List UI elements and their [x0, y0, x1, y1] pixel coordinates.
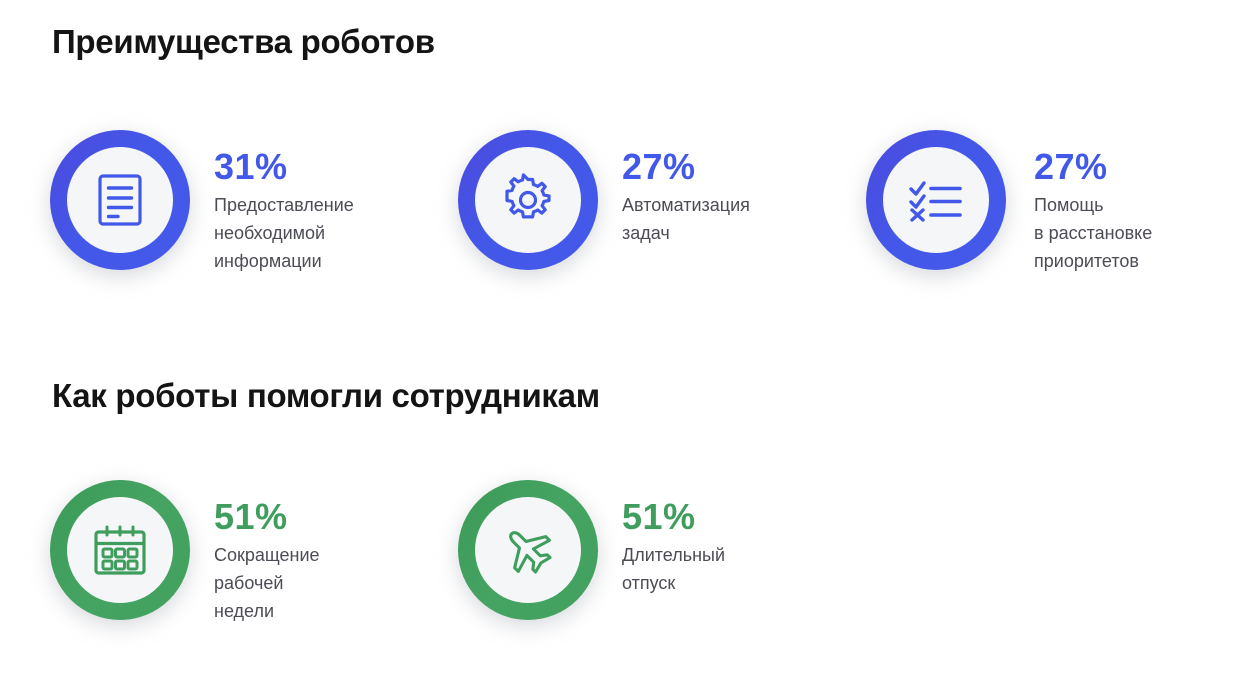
ring-blue — [50, 130, 190, 270]
stat-label: Длительный отпуск — [622, 541, 725, 597]
stat-icon-ring — [50, 480, 190, 620]
stat-icon-ring — [458, 130, 598, 270]
ring-blue — [866, 130, 1006, 270]
stat-text: 51% Длительный отпуск — [622, 480, 725, 597]
gear-icon — [501, 173, 555, 227]
ring-blue — [458, 130, 598, 270]
stat-label: Сокращение рабочей недели — [214, 541, 320, 625]
checklist-icon — [908, 176, 964, 224]
airplane-icon — [500, 523, 556, 577]
stat-block-workweek: 51% Сокращение рабочей недели — [50, 480, 320, 625]
calendar-icon — [93, 524, 147, 576]
infographic-page: Преимущества роботов — [0, 0, 1241, 694]
stat-text: 27% Автоматизация задач — [622, 130, 750, 247]
stat-block-vacation: 51% Длительный отпуск — [458, 480, 725, 620]
stat-label: Предоставление необходимой информации — [214, 191, 354, 275]
stat-label: Автоматизация задач — [622, 191, 750, 247]
stat-percent: 51% — [622, 496, 725, 538]
stat-label: Помощь в расстановке приоритетов — [1034, 191, 1152, 275]
ring-inner-disc — [883, 147, 989, 253]
stat-icon-ring — [866, 130, 1006, 270]
stat-text: 51% Сокращение рабочей недели — [214, 480, 320, 625]
stat-icon-ring — [50, 130, 190, 270]
stat-text: 27% Помощь в расстановке приоритетов — [1034, 130, 1152, 275]
ring-inner-disc — [475, 497, 581, 603]
ring-green — [458, 480, 598, 620]
ring-green — [50, 480, 190, 620]
stat-icon-ring — [458, 480, 598, 620]
ring-inner-disc — [475, 147, 581, 253]
stat-percent: 51% — [214, 496, 320, 538]
stat-percent: 27% — [622, 146, 750, 188]
document-icon — [97, 173, 143, 227]
stat-block-information: 31% Предоставление необходимой информаци… — [50, 130, 354, 275]
ring-inner-disc — [67, 147, 173, 253]
stat-text: 31% Предоставление необходимой информаци… — [214, 130, 354, 275]
ring-inner-disc — [67, 497, 173, 603]
stat-block-automation: 27% Автоматизация задач — [458, 130, 750, 270]
stat-percent: 27% — [1034, 146, 1152, 188]
section-title-employees: Как роботы помогли сотрудникам — [52, 376, 600, 416]
section-title-advantages: Преимущества роботов — [52, 22, 435, 62]
stat-block-priorities: 27% Помощь в расстановке приоритетов — [866, 130, 1152, 275]
stat-percent: 31% — [214, 146, 354, 188]
